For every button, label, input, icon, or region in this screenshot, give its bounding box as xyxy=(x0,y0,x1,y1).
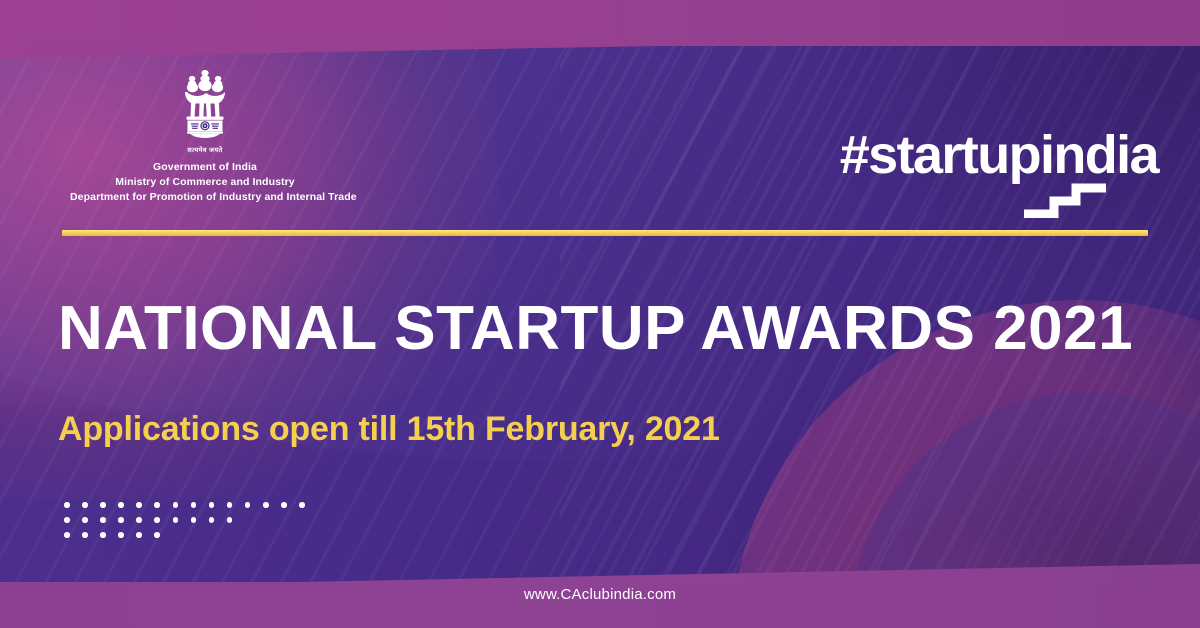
grid-dot xyxy=(64,532,70,538)
ministry-line-1: Government of India xyxy=(70,160,340,175)
ministry-line-3: Department for Promotion of Industry and… xyxy=(70,190,340,205)
grid-dot xyxy=(100,502,106,508)
grid-dot xyxy=(82,532,88,538)
startupindia-wordmark: #startupindia xyxy=(840,128,1158,182)
site-watermark: www.CAclubindia.com xyxy=(0,586,1200,603)
emblem-motto: सत्यमेव जयते xyxy=(70,145,340,154)
national-startup-awards-banner: सत्यमेव जयते Government of India Ministr… xyxy=(0,0,1200,628)
staircase-steps-icon xyxy=(1020,174,1110,218)
grid-dot xyxy=(118,502,124,508)
grid-dot xyxy=(281,502,287,508)
decorative-dot-grid xyxy=(64,502,305,547)
grid-dot xyxy=(154,532,160,538)
grid-dot xyxy=(100,517,106,523)
grid-dot xyxy=(227,502,233,508)
grid-dot xyxy=(118,517,124,523)
grid-dot xyxy=(299,502,305,508)
grid-dot xyxy=(100,532,106,538)
ministry-line-2: Ministry of Commerce and Industry xyxy=(70,175,340,190)
grid-dot xyxy=(173,517,179,523)
grid-dot xyxy=(64,502,70,508)
dot-row xyxy=(64,502,305,508)
banner-content: सत्यमेव जयते Government of India Ministr… xyxy=(0,0,1200,628)
grid-dot xyxy=(245,502,251,508)
grid-dot xyxy=(263,502,269,508)
grid-dot xyxy=(136,532,142,538)
grid-dot xyxy=(154,517,160,523)
grid-dot xyxy=(136,517,142,523)
grid-dot xyxy=(191,502,197,508)
dot-row xyxy=(64,532,305,538)
grid-dot xyxy=(227,517,233,523)
startupindia-logo: #startupindia xyxy=(838,128,1158,220)
grid-dot xyxy=(154,502,160,508)
grid-dot xyxy=(209,517,215,523)
page-title: NATIONAL STARTUP AWARDS 2021 xyxy=(58,298,1133,360)
government-emblem-block: सत्यमेव जयते Government of India Ministr… xyxy=(70,68,340,205)
grid-dot xyxy=(82,502,88,508)
grid-dot xyxy=(173,502,179,508)
grid-dot xyxy=(64,517,70,523)
grid-dot xyxy=(118,532,124,538)
gold-divider-rule xyxy=(62,230,1148,236)
ashoka-lion-capital-emblem xyxy=(174,68,236,144)
application-deadline-text: Applications open till 15th February, 20… xyxy=(58,412,720,446)
grid-dot xyxy=(82,517,88,523)
dot-row xyxy=(64,517,305,523)
grid-dot xyxy=(136,502,142,508)
grid-dot xyxy=(191,517,197,523)
ministry-text: Government of India Ministry of Commerce… xyxy=(70,160,340,205)
grid-dot xyxy=(209,502,215,508)
